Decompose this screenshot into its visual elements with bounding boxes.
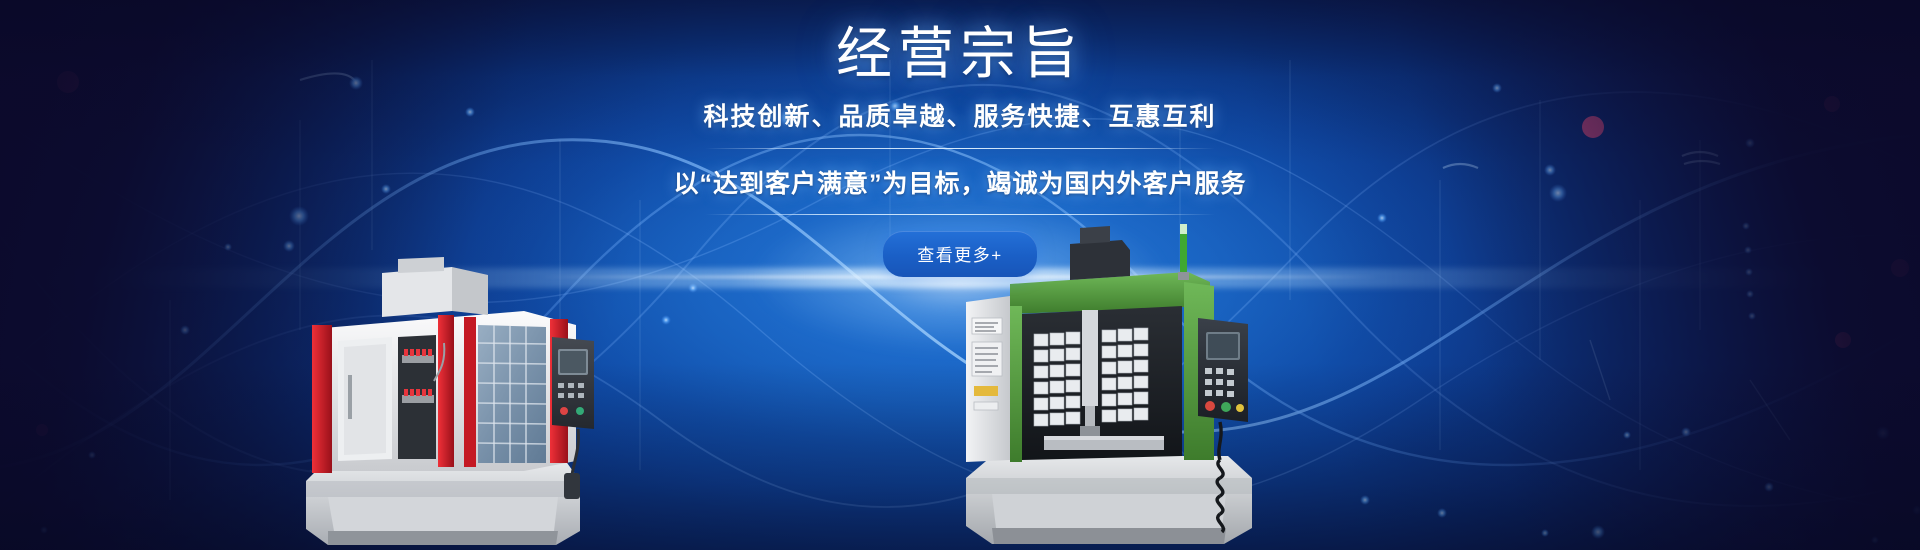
divider-upper <box>705 148 1215 149</box>
banner-tagline: 以“达到客户满意”为目标，竭诚为国内外客户服务 <box>0 164 1920 200</box>
divider-lower <box>705 214 1215 215</box>
cnc-machine-left <box>288 245 600 545</box>
banner-text-block: 经营宗旨 科技创新、品质卓越、服务快捷、互惠互利 以“达到客户满意”为目标，竭诚… <box>0 24 1920 277</box>
view-more-button[interactable]: 查看更多+ <box>883 231 1036 277</box>
promo-banner: 经营宗旨 科技创新、品质卓越、服务快捷、互惠互利 以“达到客户满意”为目标，竭诚… <box>0 0 1920 550</box>
page-title: 经营宗旨 <box>0 24 1920 83</box>
banner-subtitle: 科技创新、品质卓越、服务快捷、互惠互利 <box>0 97 1920 133</box>
